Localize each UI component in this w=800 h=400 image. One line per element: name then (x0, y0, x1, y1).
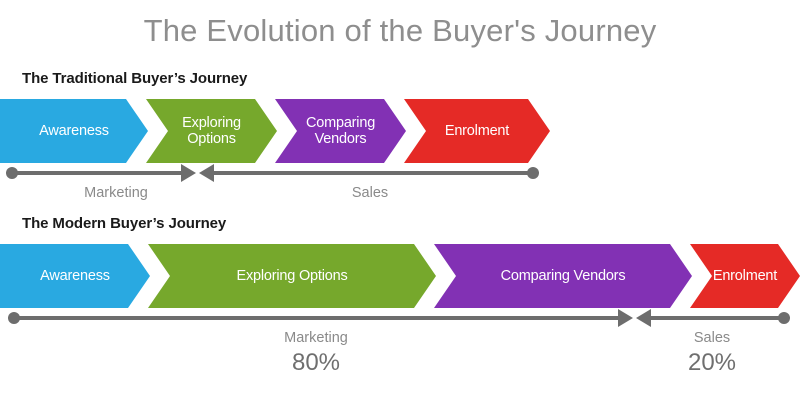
stage-chevron-awareness-modern[interactable]: Awareness (0, 244, 150, 308)
stage-label: Comparing Vendors (300, 115, 381, 147)
modern-journey-stages: Awareness Exploring Options Comparing Ve… (0, 244, 800, 308)
stage-chevron-exploring-modern[interactable]: Exploring Options (148, 244, 436, 308)
stage-chevron-comparing-modern[interactable]: Comparing Vendors (434, 244, 692, 308)
sales-range-line (650, 316, 785, 320)
section-heading-modern: The Modern Buyer’s Journey (22, 215, 226, 232)
stage-label: Enrolment (707, 268, 783, 284)
stage-chevron-awareness-traditional[interactable]: Awareness (0, 99, 148, 163)
marketing-range-line (14, 316, 619, 320)
infographic-canvas: The Evolution of the Buyer's Journey The… (0, 0, 800, 400)
sales-range-end-dot (778, 312, 790, 324)
stage-label: Enrolment (439, 123, 515, 139)
sales-label: Sales (290, 185, 450, 201)
stage-chevron-enrolment-modern[interactable]: Enrolment (690, 244, 800, 308)
marketing-percent: 80% (236, 349, 396, 377)
sales-range-end-dot (527, 167, 539, 179)
page-title: The Evolution of the Buyer's Journey (0, 13, 800, 49)
marketing-arrowhead (618, 309, 633, 327)
stage-label: Comparing Vendors (495, 268, 632, 284)
modern-journey-measures: Marketing 80% Sales 20% (0, 308, 800, 348)
marketing-label: Marketing (36, 185, 196, 201)
sales-arrowhead (636, 309, 651, 327)
sales-label: Sales (637, 330, 787, 346)
sales-percent: 20% (637, 349, 787, 377)
traditional-journey-measures: Marketing Sales (0, 163, 800, 203)
section-heading-traditional: The Traditional Buyer’s Journey (22, 70, 247, 87)
marketing-range-line (12, 171, 182, 175)
stage-chevron-exploring-traditional[interactable]: Exploring Options (146, 99, 277, 163)
stage-chevron-enrolment-traditional[interactable]: Enrolment (404, 99, 550, 163)
stage-label: Exploring Options (230, 268, 353, 284)
sales-arrowhead (199, 164, 214, 182)
stage-chevron-comparing-traditional[interactable]: Comparing Vendors (275, 99, 406, 163)
sales-range-line (213, 171, 538, 175)
stage-label: Exploring Options (176, 115, 247, 147)
stage-label: Awareness (34, 268, 116, 284)
stage-label: Awareness (33, 123, 115, 139)
marketing-arrowhead (181, 164, 196, 182)
marketing-label: Marketing (236, 330, 396, 346)
traditional-journey-stages: Awareness Exploring Options Comparing Ve… (0, 99, 800, 163)
